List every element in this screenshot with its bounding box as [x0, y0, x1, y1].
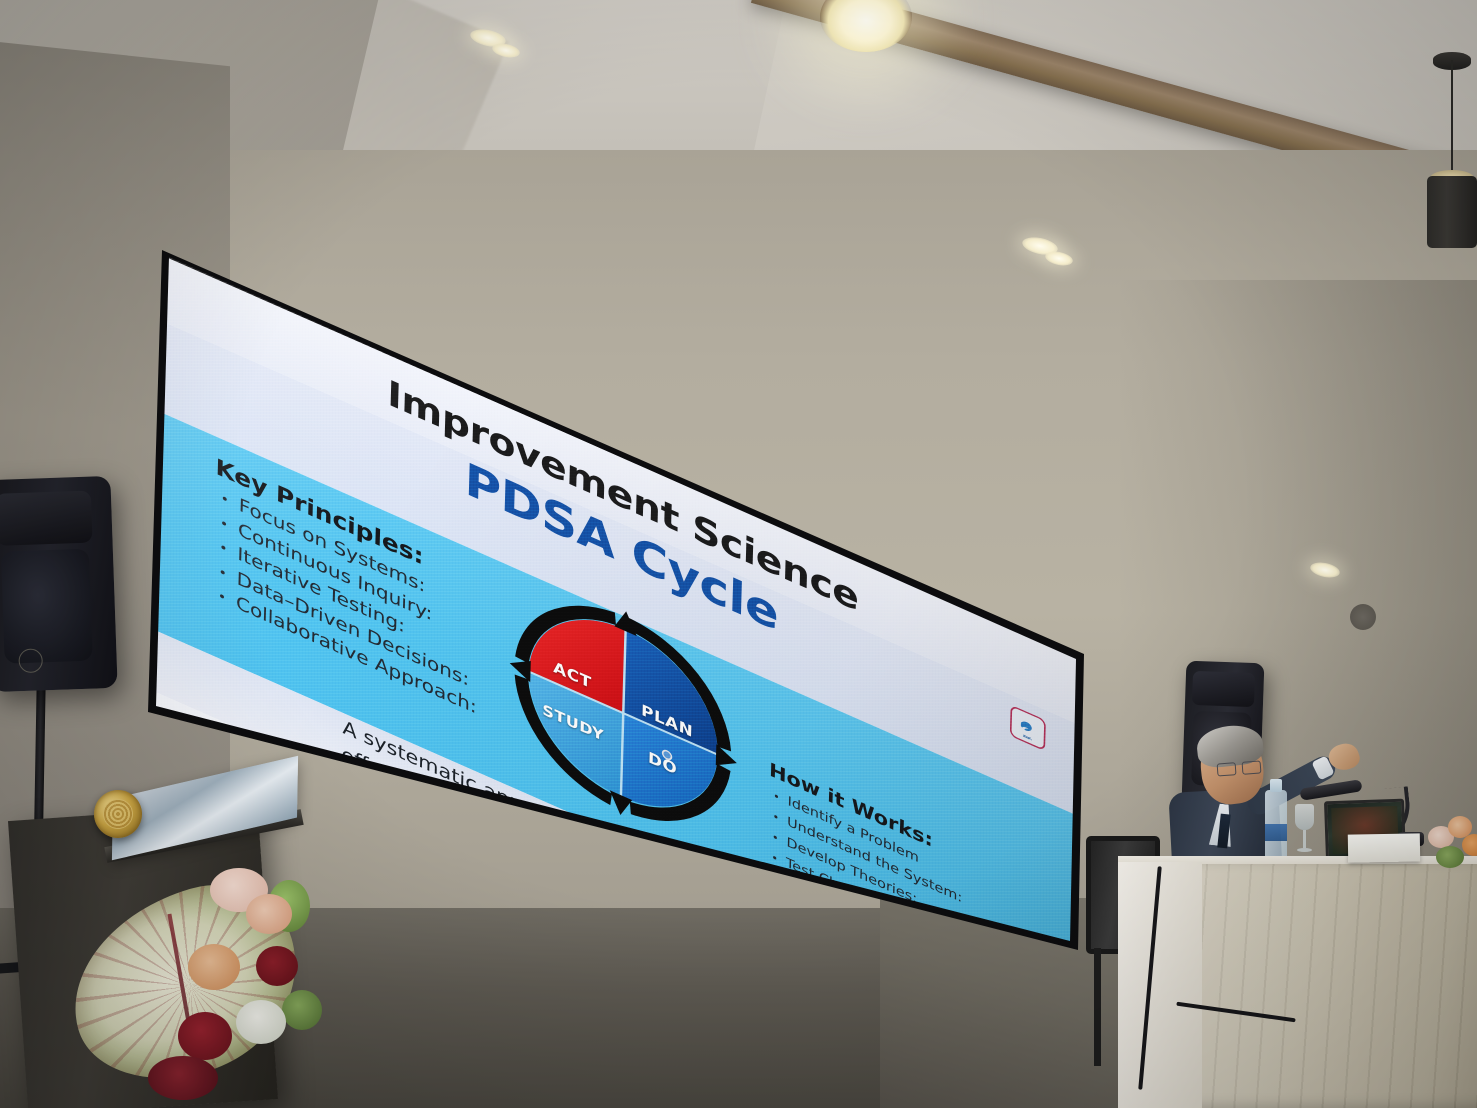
chair-leg — [1094, 948, 1101, 1066]
screen-surface: Improvement Science PDSA Cycle สมศ. Key … — [140, 232, 1085, 952]
floral-arrangement — [60, 850, 360, 1108]
flower-blossom — [178, 1012, 232, 1060]
flower-blossom — [256, 946, 298, 986]
glass-bowl — [1295, 804, 1314, 830]
presentation-slide: Improvement Science PDSA Cycle สมศ. Key … — [155, 258, 1080, 952]
table-floral-arrangement — [1428, 812, 1477, 870]
table-skirt-white-panel — [1118, 862, 1202, 1108]
water-bottle — [1265, 790, 1287, 862]
pa-speaker-left — [0, 476, 118, 692]
glass-foot — [1297, 848, 1312, 852]
speaker-horn — [1192, 671, 1255, 707]
flower-blossom — [148, 1056, 218, 1100]
conference-room-scene: Improvement Science PDSA Cycle สมศ. Key … — [0, 0, 1477, 1108]
speaker-horn — [0, 491, 93, 546]
flower-greenery — [1436, 846, 1464, 868]
name-card — [1348, 833, 1420, 862]
presenter-glasses-icon — [1217, 760, 1262, 775]
name-card-line-1 — [1383, 842, 1385, 847]
speaker-woofer — [1, 549, 93, 664]
drinking-glass — [1295, 804, 1314, 854]
pendant-lamp-icon — [1427, 176, 1477, 248]
bottle-label — [1265, 824, 1287, 841]
led-display-screen[interactable]: Improvement Science PDSA Cycle สมศ. Key … — [140, 232, 1085, 952]
flower-blossom — [236, 1000, 286, 1044]
flower-greenery — [282, 990, 322, 1030]
flower-blossom — [188, 944, 240, 990]
speaker-brand-icon — [18, 648, 43, 673]
name-card-line-2 — [1383, 849, 1384, 853]
pendant-cord — [1451, 60, 1453, 178]
wall-spot-light-icon — [1350, 604, 1376, 630]
flower-blossom — [246, 894, 292, 934]
glass-stem — [1303, 830, 1306, 848]
flower-blossom — [1462, 834, 1477, 856]
